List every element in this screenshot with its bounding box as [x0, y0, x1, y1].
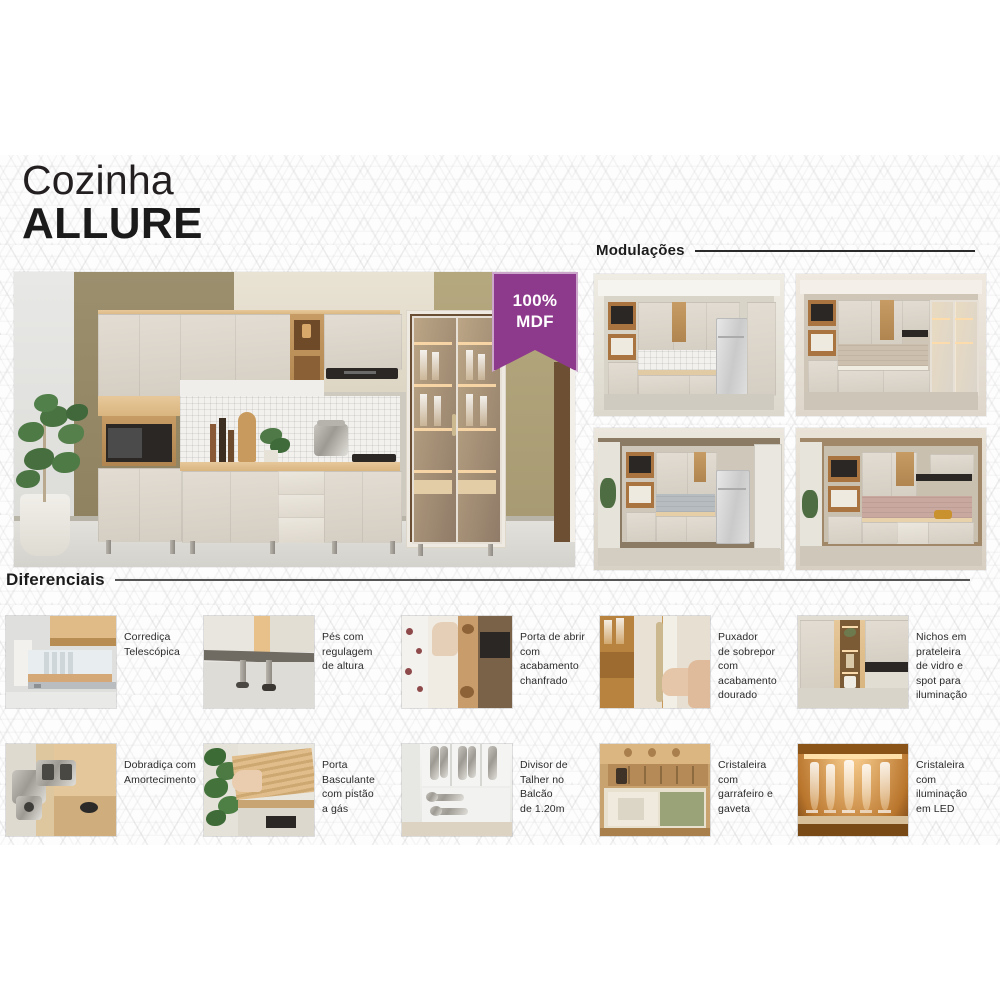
section-title-modulations: Modulações: [596, 242, 975, 259]
modulations-grid: [594, 274, 986, 590]
cutlery-divider-icon: [402, 744, 512, 836]
list-item: Corrediça Telescópica: [6, 616, 204, 708]
list-item: Divisor de Talher no Balcão de 1.20m: [402, 744, 600, 836]
badge-text: 100% MDF: [492, 290, 578, 332]
badge-line1: 100%: [492, 290, 578, 311]
list-item: Puxador de sobrepor com acabamento doura…: [600, 616, 798, 708]
page-title-line2: ALLURE: [22, 200, 203, 247]
list-item-caption: Divisor de Talher no Balcão de 1.20m: [512, 744, 572, 816]
list-item: Porta Basculante com pistão a gás: [204, 744, 402, 836]
page-title: Cozinha ALLURE: [22, 160, 203, 247]
section-title-differentials-label: Diferenciais: [6, 570, 105, 590]
list-item: Pés com regulagem de altura: [204, 616, 402, 708]
soft-close-hinge-icon: [6, 744, 116, 836]
list-item-caption: Nichos em prateleira de vidro e spot par…: [908, 616, 971, 703]
adjustable-height-feet-icon: [204, 616, 314, 708]
list-item: Nichos em prateleira de vidro e spot par…: [798, 616, 996, 708]
list-item-caption: Pés com regulagem de altura: [314, 616, 377, 674]
divider: [115, 579, 970, 581]
modulation-thumbnail[interactable]: [796, 428, 986, 570]
wine-rack-and-drawer-icon: [600, 744, 710, 836]
list-item-caption: Cristaleira com garrafeiro e gaveta: [710, 744, 777, 816]
list-item-caption: Puxador de sobrepor com acabamento doura…: [710, 616, 781, 703]
differentials-list: Corrediça Telescópica: [0, 616, 1000, 854]
differentials-row: Corrediça Telescópica: [0, 616, 1000, 726]
list-item: Cristaleira com garrafeiro e gaveta: [600, 744, 798, 836]
list-item: Dobradiça com Amortecimento: [6, 744, 204, 836]
led-lighting-icon: [798, 744, 908, 836]
golden-surface-handle-icon: [600, 616, 710, 708]
list-item-caption: Porta Basculante com pistão a gás: [314, 744, 379, 816]
list-item-caption: Cristaleira com iluminação em LED: [908, 744, 971, 816]
differentials-row: Dobradiça com Amortecimento: [0, 744, 1000, 854]
beveled-finish-door-icon: [402, 616, 512, 708]
page-title-line1: Cozinha: [22, 160, 203, 200]
modulation-thumbnail[interactable]: [594, 428, 784, 570]
product-infographic-page: Cozinha ALLURE: [0, 0, 1000, 1000]
list-item-caption: Corrediça Telescópica: [116, 616, 184, 659]
divider: [695, 250, 975, 252]
telescopic-drawer-slide-icon: [6, 616, 116, 708]
list-item-caption: Dobradiça com Amortecimento: [116, 744, 200, 787]
glass-shelf-niche-with-spotlight-icon: [798, 616, 908, 708]
list-item: Porta de abrir com acabamento chanfrado: [402, 616, 600, 708]
gas-piston-tilt-door-icon: [204, 744, 314, 836]
status-badge: 100% MDF: [492, 272, 578, 372]
section-title-modulations-label: Modulações: [596, 242, 685, 259]
badge-line2: MDF: [492, 311, 578, 332]
hero-kitchen-photo: [14, 272, 575, 567]
modulation-thumbnail[interactable]: [796, 274, 986, 416]
modulation-thumbnail[interactable]: [594, 274, 784, 416]
list-item-caption: Porta de abrir com acabamento chanfrado: [512, 616, 589, 688]
section-title-differentials: Diferenciais: [6, 570, 970, 590]
list-item: Cristaleira com iluminação em LED: [798, 744, 996, 836]
